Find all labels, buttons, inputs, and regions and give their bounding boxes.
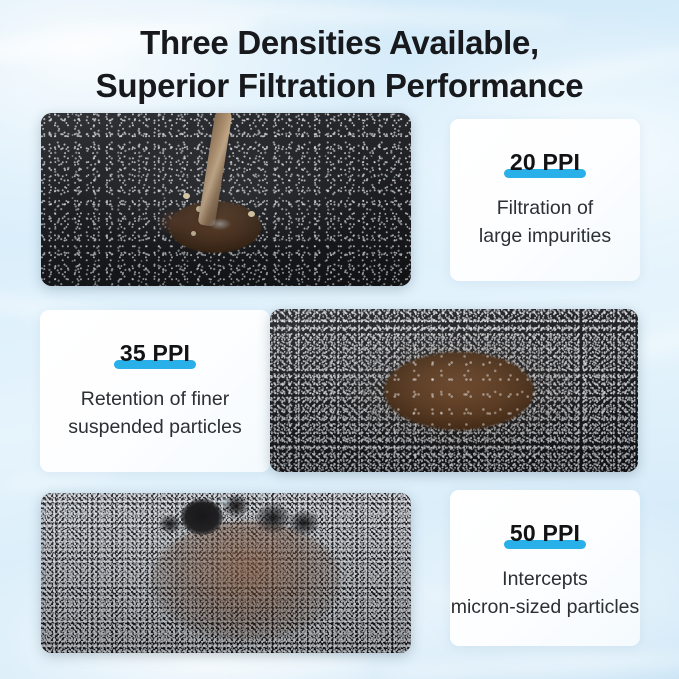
ppi-badge-inner: 20 PPI [504, 149, 586, 180]
foam-photo-35ppi [270, 309, 638, 472]
description-20ppi: Filtration of large impurities [450, 195, 640, 250]
ppi-value: 50 PPI [510, 520, 580, 546]
water-ripple-decoration [380, 646, 679, 679]
page-title-line-1: Three Densities Available, [0, 22, 679, 65]
foam-photo-50ppi [41, 493, 411, 653]
description-line-2: suspended particles [40, 414, 270, 442]
photo-sheen [41, 493, 411, 653]
text-content-35ppi: 35 PPI Retention of finer suspended part… [40, 310, 270, 472]
ppi-badge-20: 20 PPI [450, 149, 640, 180]
description-line-1: Filtration of [450, 195, 640, 223]
description-line-1: Retention of finer [40, 386, 270, 414]
infographic-poster: Three Densities Available, Superior Filt… [0, 0, 679, 679]
ppi-value: 35 PPI [120, 340, 190, 366]
description-50ppi: Intercepts micron-sized particles [430, 566, 660, 621]
description-35ppi: Retention of finer suspended particles [40, 386, 270, 441]
photo-sheen [41, 113, 411, 286]
description-line-2: micron-sized particles [430, 594, 660, 622]
ppi-badge-50: 50 PPI [450, 520, 640, 551]
page-title: Three Densities Available, Superior Filt… [0, 22, 679, 108]
foam-photo-20ppi [41, 113, 411, 286]
description-line-1: Intercepts [430, 566, 660, 594]
description-line-2: large impurities [450, 223, 640, 251]
ppi-badge-inner: 35 PPI [114, 340, 196, 371]
ppi-badge-35: 35 PPI [40, 340, 270, 371]
ppi-value: 20 PPI [510, 149, 580, 175]
text-content-50ppi: 50 PPI Intercepts micron-sized particles [450, 490, 640, 646]
ppi-badge-inner: 50 PPI [504, 520, 586, 551]
photo-sheen [270, 309, 638, 472]
text-content-20ppi: 20 PPI Filtration of large impurities [450, 119, 640, 281]
page-title-line-2: Superior Filtration Performance [0, 65, 679, 108]
